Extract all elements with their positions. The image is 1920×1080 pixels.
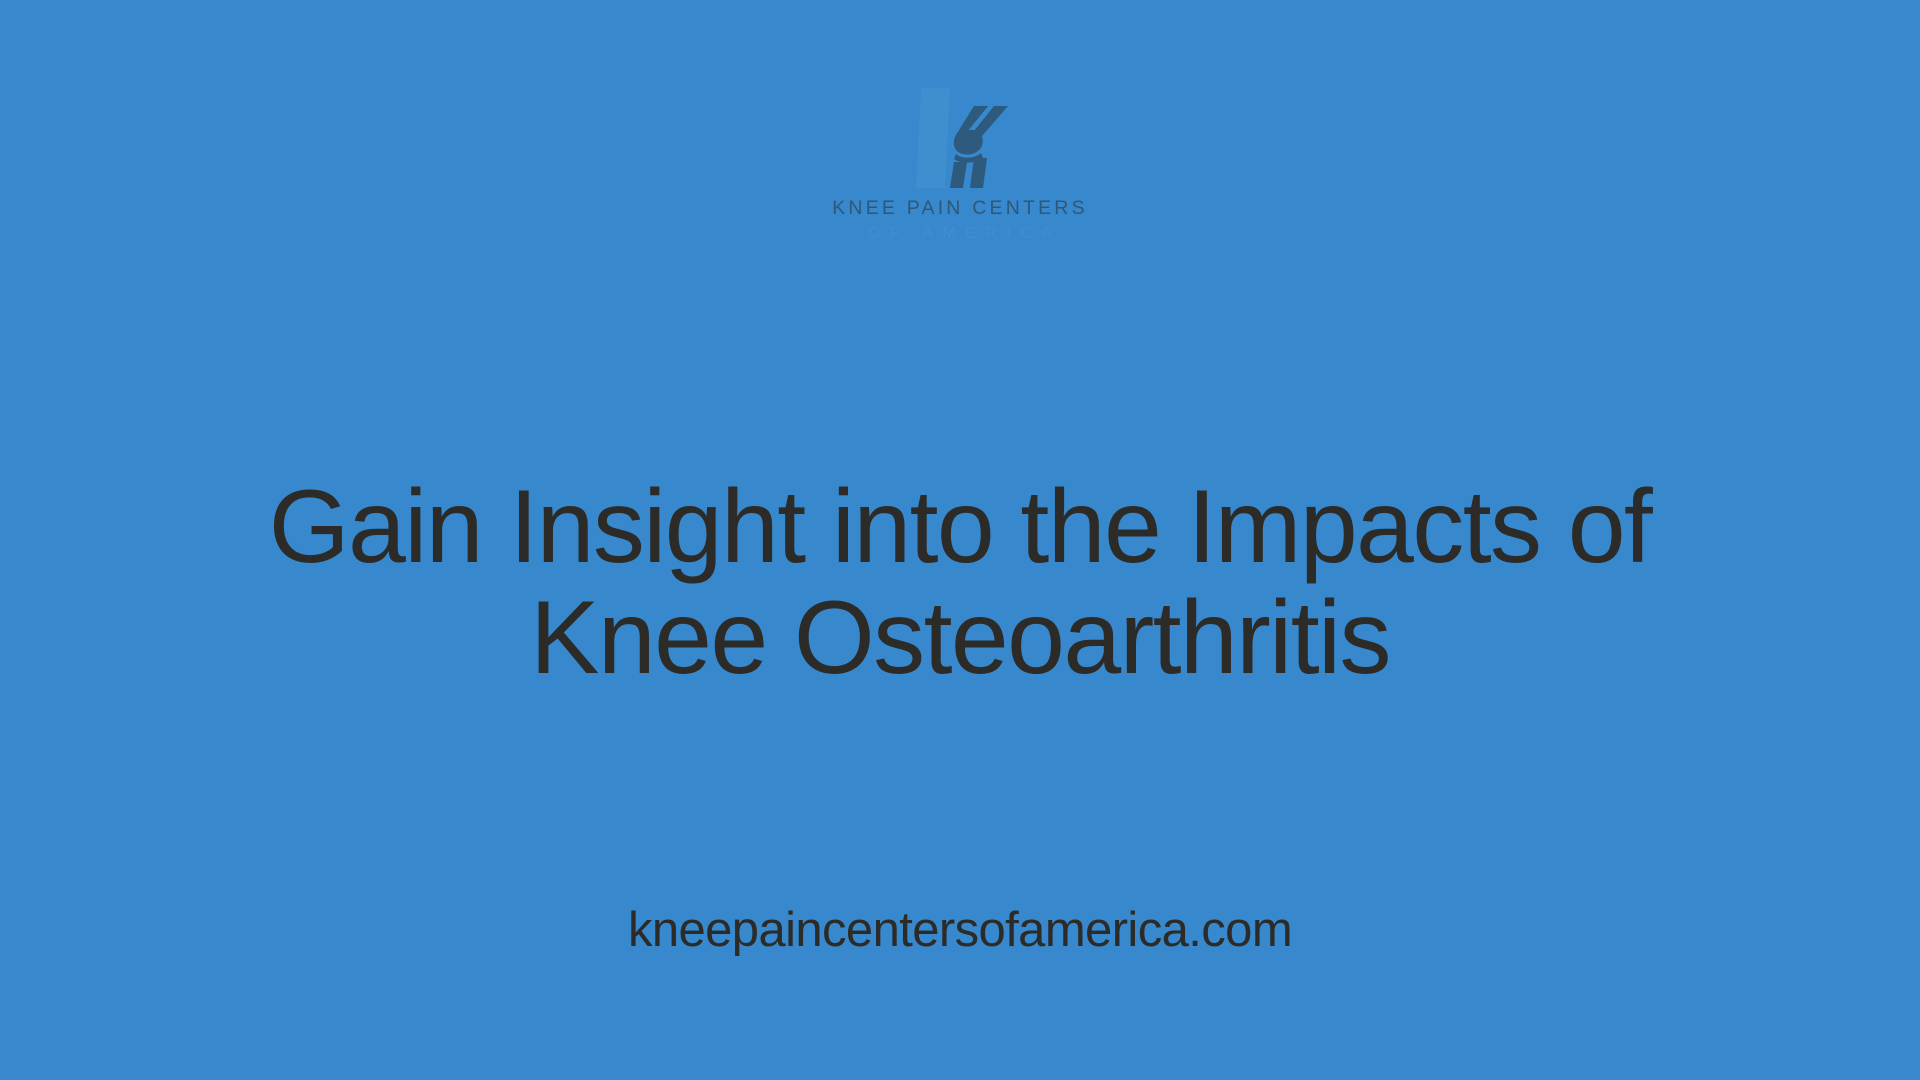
site-url[interactable]: kneepaincentersofamerica.com — [0, 906, 1920, 955]
brand-lockup: KNEE PAIN CENTERS OF AMERICA — [0, 86, 1920, 242]
slide-canvas: KNEE PAIN CENTERS OF AMERICA Gain Insigh… — [0, 0, 1920, 1080]
brand-sub-wordmark: OF AMERICA — [858, 226, 1061, 242]
knee-joint-k-logo-icon — [904, 86, 1016, 190]
brand-wordmark: KNEE PAIN CENTERS — [832, 199, 1088, 219]
page-title-line-2: Knee Osteoarthritis — [150, 583, 1770, 694]
page-title: Gain Insight into the Impacts of Knee Os… — [150, 472, 1770, 695]
page-title-line-1: Gain Insight into the Impacts of — [150, 472, 1770, 583]
